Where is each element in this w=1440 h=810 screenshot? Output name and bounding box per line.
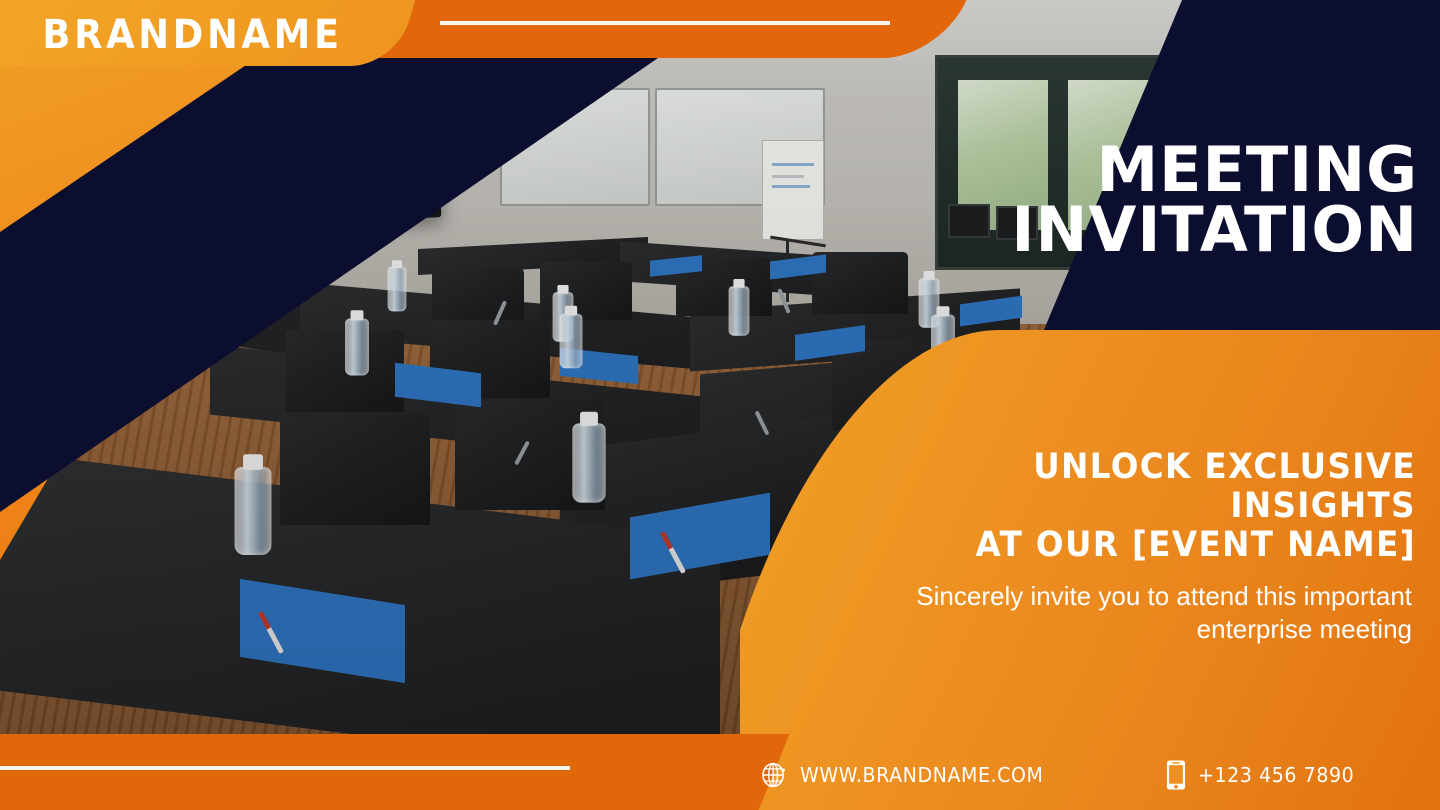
subtitle-line-1: Sincerely invite you to attend this impo… (916, 581, 1412, 611)
right-orange-panel (740, 330, 1440, 810)
website-text: WWW.BRANDNAME.COM (800, 763, 1043, 787)
headline-line-1: UNLOCK EXCLUSIVE INSIGHTS (1033, 447, 1416, 526)
header-rule (440, 21, 890, 25)
brand-name: BRANDNAME (42, 12, 373, 58)
globe-icon (760, 761, 788, 789)
footer-orange-strip (0, 734, 789, 810)
headline: UNLOCK EXCLUSIVE INSIGHTS AT OUR [EVENT … (877, 448, 1416, 566)
footer-rule (0, 766, 570, 770)
headline-line-2: AT OUR [EVENT NAME] (877, 526, 1416, 565)
phone-text: +123 456 7890 (1198, 763, 1354, 787)
website-contact[interactable]: WWW.BRANDNAME.COM (760, 761, 1056, 789)
graphic-overlays: BRANDNAME (0, 0, 1440, 810)
page-title: MEETING INVITATION (998, 140, 1418, 259)
footer-contacts: WWW.BRANDNAME.COM +123 456 7890 (680, 740, 1440, 810)
phone-icon (1166, 759, 1186, 791)
phone-contact[interactable]: +123 456 7890 (1166, 759, 1363, 791)
subtitle-line-2: enterprise meeting (1197, 614, 1412, 644)
subtitle: Sincerely invite you to attend this impo… (812, 580, 1412, 647)
title-line-2: INVITATION (998, 200, 1418, 260)
invitation-banner: BRANDNAME MEETING INVITATION UNLOCK EXCL… (0, 0, 1440, 810)
